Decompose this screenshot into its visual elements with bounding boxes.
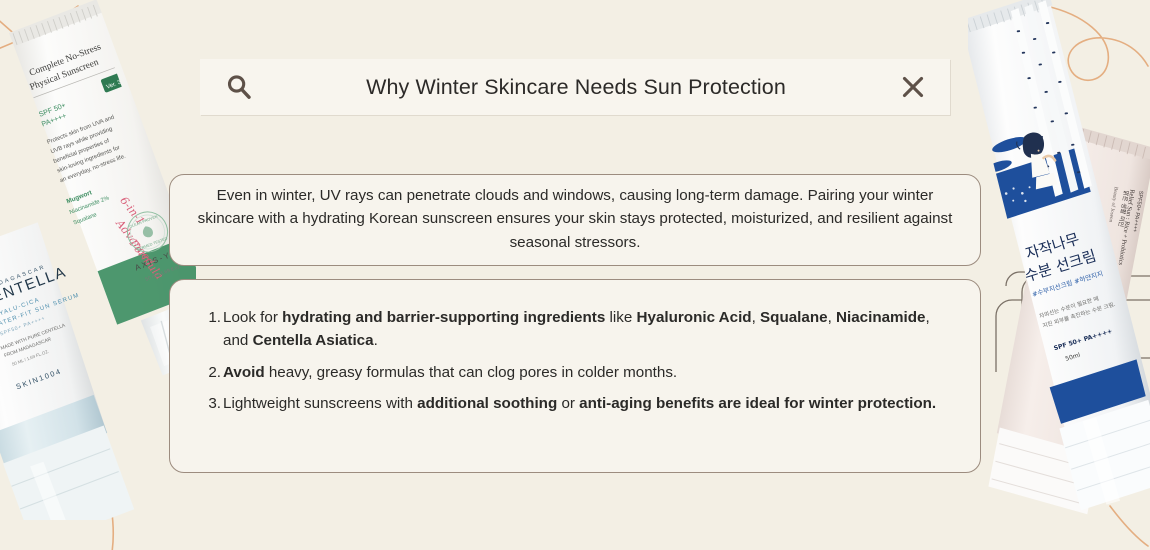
centella-cap bbox=[0, 391, 138, 520]
tip-text: heavy, greasy formulas that can clog por… bbox=[265, 364, 678, 381]
tip-text: like bbox=[605, 309, 636, 326]
svg-text:Complete No-Stress: Complete No-Stress bbox=[28, 42, 103, 79]
svg-text:MADAGASCAR: MADAGASCAR bbox=[0, 264, 47, 291]
tip-emphasis: additional soothing bbox=[417, 395, 557, 412]
tip-emphasis: Hyaluronic Acid bbox=[637, 309, 752, 326]
tip-text: . bbox=[374, 332, 378, 349]
svg-text:WATER-FIT SUN SERUM: WATER-FIT SUN SERUM bbox=[0, 293, 80, 330]
svg-text:Mugwort: Mugwort bbox=[66, 189, 94, 205]
svg-text:수분 선크림: 수분 선크림 bbox=[1023, 247, 1099, 286]
page-title: Why Winter Skincare Needs Sun Protection bbox=[254, 75, 898, 100]
decor-squiggle-top-left bbox=[0, 6, 78, 52]
decor-arc-bottom-right-2 bbox=[1110, 506, 1148, 546]
screenshot-root: Complete No-Stress Physical Sunscreen SP… bbox=[0, 0, 1150, 550]
tip-text: Look for bbox=[223, 309, 282, 326]
svg-text:#수부지선크림 #하얀지지: #수부지선크림 #하얀지지 bbox=[1031, 269, 1104, 299]
svg-text:Advanced: Advanced bbox=[113, 216, 157, 268]
svg-text:50 ML / 1.69 FL.OZ.: 50 ML / 1.69 FL.OZ. bbox=[11, 349, 49, 367]
decor-squiggle-top-right bbox=[1046, 6, 1148, 80]
search-bar[interactable]: Why Winter Skincare Needs Sun Protection bbox=[200, 59, 950, 115]
svg-text:PA++++: PA++++ bbox=[40, 111, 67, 129]
svg-text:SPF 50+ PA++++: SPF 50+ PA++++ bbox=[1053, 328, 1113, 352]
decor-squiggle-bottom-right bbox=[1066, 428, 1148, 495]
svg-text:조선: 조선 bbox=[1045, 260, 1088, 288]
boj-label-text: Beauty of Joseon Relief Sun : Rice + Pro… bbox=[1038, 178, 1144, 322]
decor-rounded-rect-right-top bbox=[1006, 272, 1036, 286]
svg-text:지친 피부를 촉진하는 수분 크림.: 지친 피부를 촉진하는 수분 크림. bbox=[1041, 300, 1116, 330]
decor-rounded-rect-right-1 bbox=[1022, 276, 1150, 354]
centella-tube-body bbox=[0, 217, 111, 475]
tips-list-item: Look for hydrating and barrier-supportin… bbox=[202, 306, 950, 352]
round-lab-cap bbox=[1057, 398, 1150, 511]
svg-text:CLEAN PROVEN: CLEAN PROVEN bbox=[129, 214, 158, 228]
svg-text:DERMED TESTED: DERMED TESTED bbox=[136, 236, 168, 251]
tip-text: , bbox=[828, 309, 836, 326]
svg-text:Niacinamide 2%: Niacinamide 2% bbox=[69, 195, 110, 216]
svg-text:자외선는 수분이 필요한 때: 자외선는 수분이 필요한 때 bbox=[1038, 294, 1100, 320]
svg-text:Formula: Formula bbox=[126, 236, 165, 281]
decor-squiggle-top-left-2 bbox=[0, 16, 44, 60]
svg-text:HYALU-CICA: HYALU-CICA bbox=[0, 297, 41, 319]
svg-text:맑은 생활 미인: 맑은 생활 미인 bbox=[1117, 190, 1131, 228]
svg-text:Protects skin from UVA and: Protects skin from UVA and bbox=[46, 115, 115, 146]
product-image-collage-left: Complete No-Stress Physical Sunscreen SP… bbox=[0, 0, 196, 520]
decor-rounded-rect-right-3 bbox=[1038, 358, 1150, 404]
svg-text:6-in-1: 6-in-1 bbox=[117, 194, 147, 227]
close-icon[interactable] bbox=[898, 72, 928, 102]
svg-text:자작나무: 자작나무 bbox=[1023, 230, 1081, 263]
boj-tube-body bbox=[995, 127, 1150, 463]
round-lab-blue-band bbox=[1047, 358, 1150, 435]
round-lab-tube-crimp bbox=[968, 0, 1055, 34]
decor-rounded-rect-right-2 bbox=[996, 300, 1150, 372]
tip-text: Lightweight sunscreens with bbox=[223, 395, 417, 412]
svg-text:50ml: 50ml bbox=[1065, 352, 1082, 363]
svg-text:FROM MADAGASCAR: FROM MADAGASCAR bbox=[3, 336, 52, 359]
tip-emphasis: Niacinamide bbox=[836, 309, 925, 326]
round-lab-illustration bbox=[968, 0, 1095, 222]
tip-emphasis: anti-aging benefits are ideal for winter… bbox=[579, 395, 936, 412]
svg-text:SKIN1004: SKIN1004 bbox=[15, 366, 63, 391]
tip-text: , bbox=[752, 309, 760, 326]
svg-text:beneficial properties of: beneficial properties of bbox=[53, 138, 111, 165]
boj-tube-crimp bbox=[1052, 120, 1150, 160]
tip-emphasis: hydrating and barrier-supporting ingredi… bbox=[282, 309, 605, 326]
svg-text:Physical Sunscreen: Physical Sunscreen bbox=[29, 57, 101, 92]
svg-text:SPF50+ PA++++: SPF50+ PA++++ bbox=[0, 315, 46, 337]
svg-text:미인: 미인 bbox=[1048, 283, 1091, 311]
round-lab-label-text: 자작나무 수분 선크림 #수부지선크림 #하얀지지 자외선는 수분이 필요한 때… bbox=[1018, 226, 1123, 367]
tips-list: Look for hydrating and barrier-supportin… bbox=[192, 306, 950, 415]
svg-text:Squalane: Squalane bbox=[73, 212, 98, 226]
boj-brand-calligraphy: 조선 미인 bbox=[1038, 254, 1099, 316]
svg-text:MADE WITH PURE CENTELLA: MADE WITH PURE CENTELLA bbox=[0, 322, 67, 351]
svg-text:skin-loving ingredients for: skin-loving ingredients for bbox=[56, 145, 121, 175]
svg-text:Ver. 3: Ver. 3 bbox=[106, 79, 123, 90]
round-lab-tube-body bbox=[968, 0, 1150, 440]
search-icon[interactable] bbox=[224, 72, 254, 102]
svg-text:SPF50+ PA++++: SPF50+ PA++++ bbox=[1131, 190, 1144, 232]
round-lab-character bbox=[1015, 130, 1058, 191]
tip-emphasis: Avoid bbox=[223, 364, 265, 381]
svg-text:an everyday, no-stress life.: an everyday, no-stress life. bbox=[59, 153, 127, 184]
summary-card: Even in winter, UV rays can penetrate cl… bbox=[169, 174, 981, 266]
boj-cap bbox=[987, 427, 1101, 514]
tips-list-item: Lightweight sunscreens with additional s… bbox=[202, 392, 950, 415]
axis-y-handwriting: 6-in-1 Advanced Formula bbox=[108, 190, 167, 287]
axis-y-label-text: Complete No-Stress Physical Sunscreen SP… bbox=[24, 35, 184, 298]
product-image-collage-right: Beauty of Joseon Relief Sun : Rice + Pro… bbox=[968, 0, 1150, 518]
axis-y-tube-crimp bbox=[6, 0, 105, 47]
svg-text:Relief Sun : Rice + Probiotics: Relief Sun : Rice + Probiotics bbox=[1117, 189, 1136, 266]
svg-text:Beauty of Joseon: Beauty of Joseon bbox=[1107, 186, 1120, 223]
tip-emphasis: Centella Asiatica bbox=[253, 332, 374, 349]
summary-text: Even in winter, UV rays can penetrate cl… bbox=[196, 184, 954, 255]
tip-text: or bbox=[557, 395, 579, 412]
svg-text:CENTELLA: CENTELLA bbox=[0, 263, 69, 310]
svg-text:SPF 50+: SPF 50+ bbox=[37, 100, 67, 118]
decor-arc-bottom-left bbox=[0, 372, 113, 550]
tips-card: Look for hydrating and barrier-supportin… bbox=[169, 279, 981, 473]
svg-text:UVB rays while providing: UVB rays while providing bbox=[50, 126, 113, 155]
tip-emphasis: Squalane bbox=[760, 309, 828, 326]
centella-label-text: MADAGASCAR CENTELLA HYALU-CICA WATER-FIT… bbox=[0, 259, 96, 395]
axis-y-seal-badge: CLEAN PROVEN DERMED TESTED bbox=[122, 206, 174, 258]
svg-text:AXIS-Y: AXIS-Y bbox=[134, 250, 173, 272]
axis-y-tube-body bbox=[9, 0, 196, 334]
tips-list-item: Avoid heavy, greasy formulas that can cl… bbox=[202, 361, 950, 384]
